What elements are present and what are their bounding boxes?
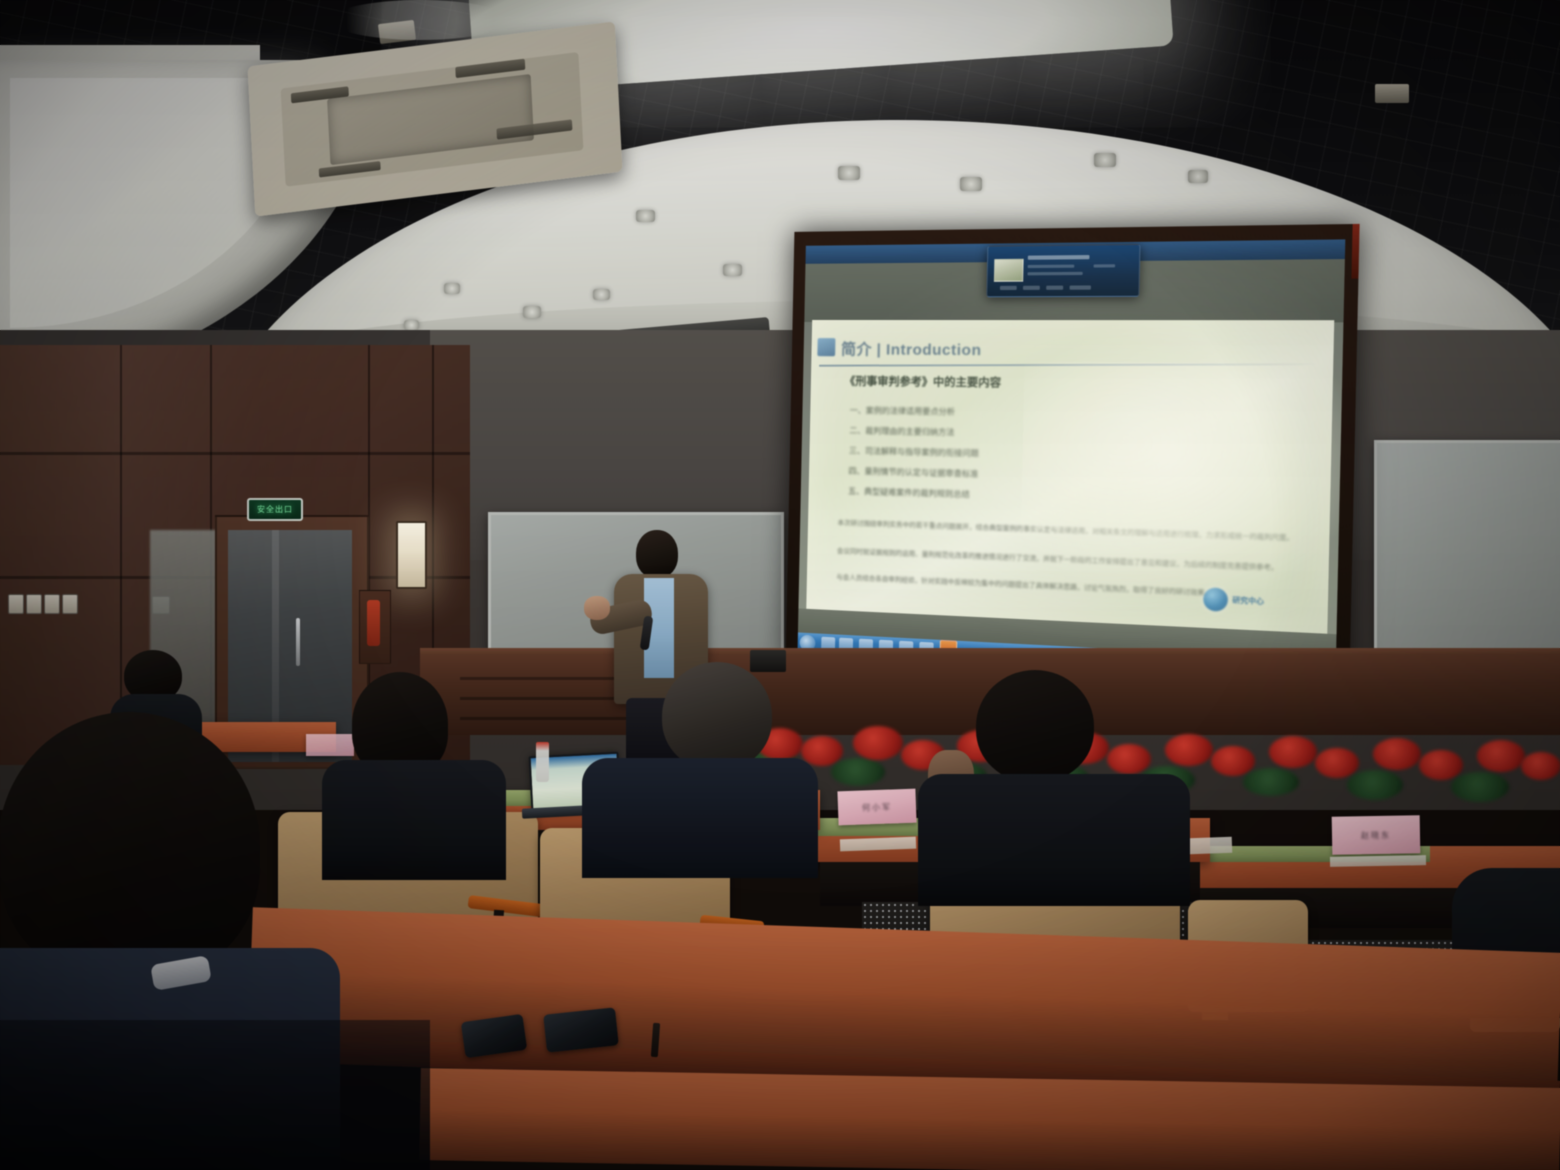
- presenter-head: [636, 530, 678, 578]
- attendee-woman-left: [322, 672, 502, 872]
- paper-documents-2[interactable]: [1330, 855, 1426, 867]
- slide-bullet-5: 五、典型疑难案件的裁判规则总结: [848, 486, 970, 501]
- presentation-slide: 简介 | Introduction 《刑事审判参考》中的主要内容 一、案例的法律…: [806, 320, 1334, 634]
- slide-title-rule: [819, 363, 1317, 366]
- attendee-center: [582, 662, 812, 872]
- downlight-6: [636, 210, 655, 222]
- foreground-shadow: [0, 1020, 430, 1170]
- attendee-woman-left-body: [322, 760, 506, 880]
- projection-screen: 简介 | Introduction 《刑事审判参考》中的主要内容 一、案例的法律…: [786, 224, 1360, 696]
- light-switch-3[interactable]: [44, 594, 60, 614]
- downlight-8: [593, 289, 610, 300]
- attendee-front-left-head: [0, 712, 260, 980]
- slide-bullet-3: 三、司法解释与指导案例的衔接问题: [849, 445, 979, 459]
- wall-sconce: [396, 521, 427, 589]
- attendee-right-body: [918, 774, 1190, 906]
- fire-extinguisher: [367, 600, 380, 646]
- light-switch-4[interactable]: [62, 594, 78, 614]
- slide-title-icon: [817, 338, 835, 356]
- downlight-1: [838, 166, 860, 180]
- name-card-right-text: 赵晓东: [1361, 829, 1391, 841]
- downlight-10: [404, 320, 419, 330]
- name-card-center[interactable]: 何小军: [837, 789, 916, 826]
- attendee-right-head: [976, 670, 1094, 782]
- projection-screen-surface: 简介 | Introduction 《刑事审判参考》中的主要内容 一、案例的法律…: [798, 239, 1346, 682]
- attendee-right: [918, 670, 1198, 900]
- water-bottle[interactable]: [536, 742, 549, 782]
- slide-subtitle: 《刑事审判参考》中的主要内容: [844, 372, 1001, 390]
- smartphone-right[interactable]: [543, 1007, 619, 1052]
- presentation-control-toolbar[interactable]: [986, 244, 1140, 297]
- toolbar-button-4[interactable]: [1070, 285, 1091, 289]
- slide-paragraph-1: 本次研讨围绕审判实务中的若干重点问题展开，结合典型案例的事实认定与法律适用，对相…: [837, 518, 1295, 546]
- slide-logo-mark: [1203, 587, 1228, 612]
- meeting-room-photo: 安全出口: [0, 0, 1560, 1170]
- exit-sign-label: 安全出口: [257, 504, 293, 515]
- downlight-2: [960, 177, 982, 191]
- door-handle[interactable]: [296, 618, 300, 666]
- slide-paragraph-2: 会议同时就证据规则的运用、量刑规范化改革的推进情况进行了交流，并就下一阶段的工作…: [837, 546, 1295, 576]
- exit-sign: 安全出口: [247, 498, 303, 521]
- attendee-center-body: [582, 758, 818, 878]
- toolbar-label-1: [1028, 255, 1090, 260]
- downlight-9: [444, 283, 460, 294]
- toolbar-label-3: [1027, 272, 1082, 276]
- slide-logo-text: 研究中心: [1232, 595, 1264, 606]
- light-switch-1[interactable]: [8, 594, 24, 614]
- slide-bullet-4: 四、量刑情节的认定与证据审查标准: [848, 465, 978, 479]
- slide-bullet-1: 一、案例的法律适用要点分析: [850, 405, 955, 418]
- name-card-right[interactable]: 赵晓东: [1332, 815, 1421, 855]
- wood-seam-h-1: [0, 452, 470, 455]
- slide-bullet-2: 二、裁判理由的主要归纳方法: [849, 425, 954, 438]
- downlight-3: [1094, 153, 1116, 167]
- toolbar-label-4: [1094, 264, 1116, 267]
- toolbar-button-3[interactable]: [1046, 286, 1063, 290]
- slide-logo: 研究中心: [1203, 585, 1308, 617]
- ceiling-glow: [330, 0, 510, 40]
- downlight-5: [723, 264, 742, 276]
- toolbar-label-2: [1028, 265, 1075, 269]
- downlight-7: [523, 306, 541, 318]
- name-card-center-text: 何小军: [862, 801, 892, 813]
- toolbar-button-2[interactable]: [1023, 286, 1040, 290]
- screen-frame-accent: [1351, 224, 1359, 279]
- attendee-center-head: [662, 662, 772, 770]
- presenter-hand: [584, 596, 610, 620]
- downlight-4: [1188, 170, 1208, 183]
- toolbar-button-1[interactable]: [1000, 286, 1017, 290]
- slide-title: 简介 | Introduction: [841, 338, 1176, 360]
- ceiling-sensor-right: [1375, 84, 1409, 103]
- slide-thumbnail-icon: [994, 259, 1024, 282]
- light-switch-2[interactable]: [26, 594, 42, 614]
